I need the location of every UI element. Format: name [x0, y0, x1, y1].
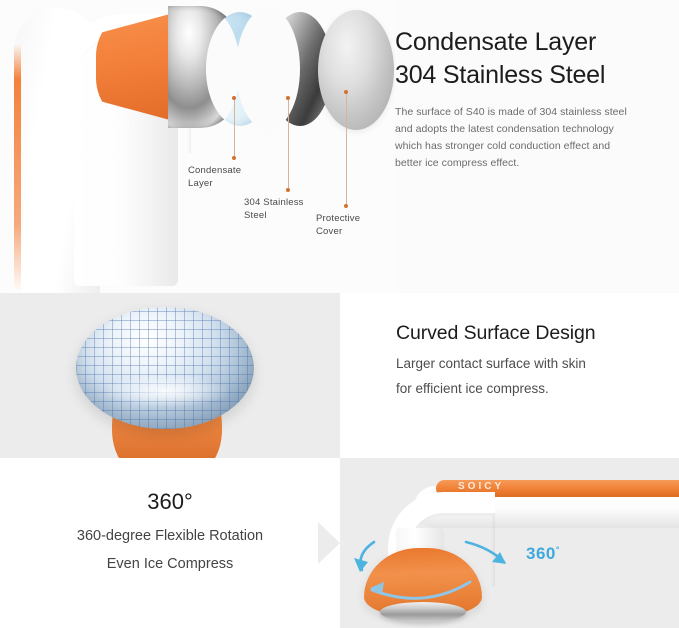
curved-surface-illustration: [0, 293, 340, 458]
callout-dot-cover-bottom: [344, 204, 348, 208]
section2-body-line2: for efficient ice compress.: [396, 381, 549, 396]
callout-leader-condensate: [234, 100, 235, 158]
callout-dot-steel-bottom: [286, 188, 290, 192]
curved-steel-dome-icon: [76, 307, 254, 429]
protective-cover-icon: [318, 10, 394, 130]
section2-body-line1: Larger contact surface with skin: [396, 356, 586, 371]
section1-title-line2: 304 Stainless Steel: [395, 61, 605, 89]
section1-title: Condensate Layer 304 Stainless Steel: [395, 26, 675, 92]
callout-label-condensate: CondensateLayer: [188, 164, 264, 190]
section-360-rotation: 360° 360-degree Flexible Rotation Even I…: [0, 458, 679, 628]
section2-body: Larger contact surface with skin for eff…: [396, 351, 664, 401]
callout-label-cover: ProtectiveCover: [316, 212, 394, 238]
wireframe-grid-overlay: [76, 307, 254, 429]
section1-text-block: Condensate Layer 304 Stainless Steel The…: [395, 0, 679, 293]
exploded-view-illustration: CondensateLayer 304 StainlessSteel Prote…: [0, 0, 395, 293]
dome-highlight: [104, 375, 229, 407]
section1-title-line1: Condensate Layer: [395, 28, 596, 56]
rotation-degree-label: 360°: [526, 544, 560, 564]
section3-body-line1: 360-degree Flexible Rotation: [0, 524, 340, 548]
rotation-degree-symbol: °: [556, 544, 560, 554]
rotation-arrows-icon: [340, 458, 679, 628]
section-curved-surface: Curved Surface Design Larger contact sur…: [0, 293, 679, 458]
section3-text-block: 360° 360-degree Flexible Rotation Even I…: [0, 458, 340, 628]
section2-title: Curved Surface Design: [396, 320, 676, 346]
mesh-dome-graphic: [70, 301, 260, 466]
product-infographic: CondensateLayer 304 StainlessSteel Prote…: [0, 0, 679, 628]
section2-text-block: Curved Surface Design Larger contact sur…: [340, 293, 679, 458]
section-condensate-layer: CondensateLayer 304 StainlessSteel Prote…: [0, 0, 679, 293]
callout-leader-cover: [346, 94, 347, 206]
section3-body-line2: Even Ice Compress: [0, 552, 340, 576]
rotation-degree-value: 360: [526, 544, 556, 563]
section1-body: The surface of S40 is made of 304 stainl…: [395, 104, 635, 172]
callout-label-steel: 304 StainlessSteel: [244, 196, 326, 222]
rotation-illustration: SOICY 360°: [340, 458, 679, 628]
section3-title: 360°: [0, 488, 340, 516]
device-graphic: SOICY 360°: [340, 458, 679, 628]
callout-dot-condensate-bottom: [232, 156, 236, 160]
callout-leader-steel: [288, 100, 289, 190]
chevron-notch-icon-row3: [318, 522, 340, 564]
handle-orange-edge: [14, 44, 21, 293]
